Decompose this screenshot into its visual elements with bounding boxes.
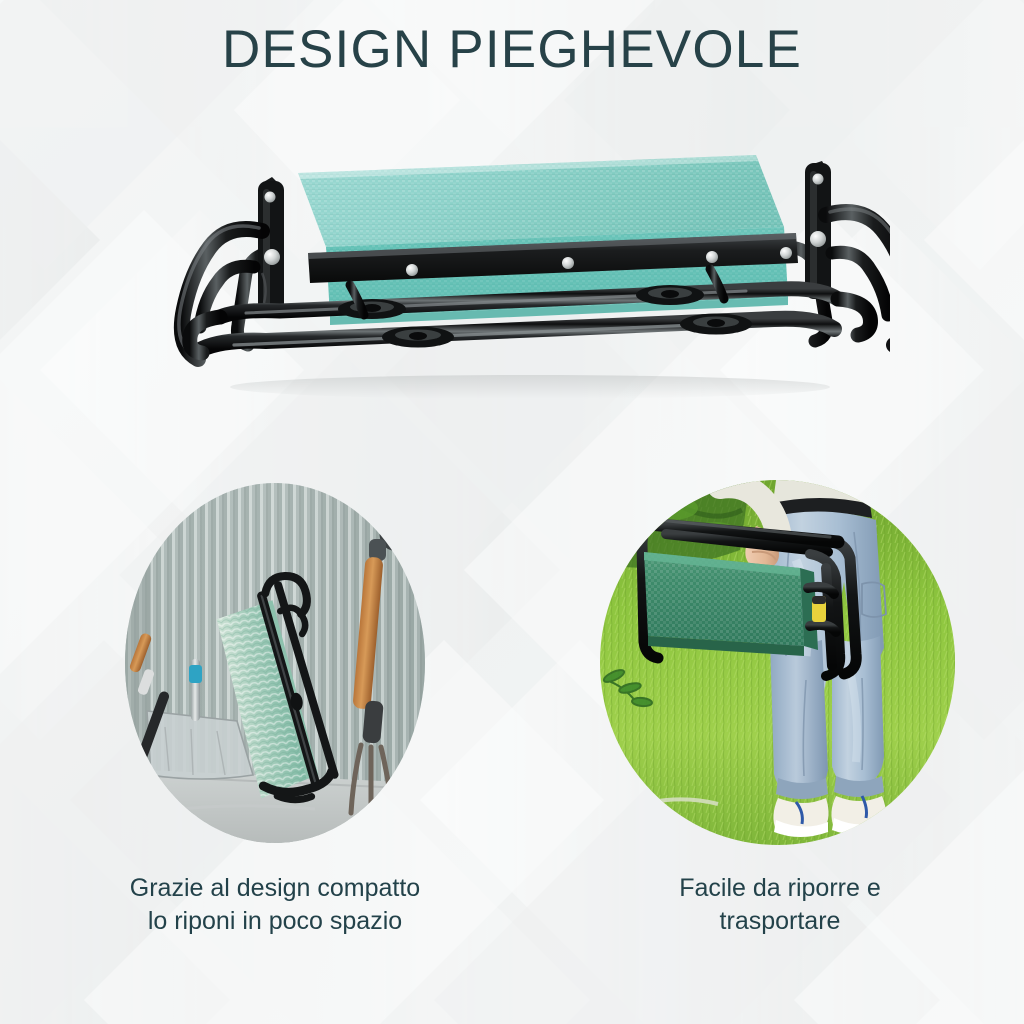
rivet bbox=[706, 251, 718, 263]
rivet bbox=[780, 247, 792, 259]
page-title: DESIGN PIEGHEVOLE bbox=[0, 18, 1024, 82]
left-hinge-bracket bbox=[258, 177, 284, 313]
right-hinge-bracket bbox=[805, 161, 831, 299]
rivet bbox=[406, 264, 418, 276]
infographic-stage: DESIGN PIEGHEVOLE bbox=[0, 0, 1024, 1024]
shed-storage-scene bbox=[125, 483, 425, 843]
rivet bbox=[562, 257, 574, 269]
hero-product-image bbox=[150, 135, 890, 415]
caption-left: Grazie al design compatto lo riponi in p… bbox=[60, 872, 490, 939]
photo-person-carrying-kneeler bbox=[600, 480, 955, 845]
photo-kneeler-in-shed bbox=[125, 483, 425, 843]
folded-kneeler-illustration bbox=[150, 135, 890, 415]
frame-lower-rails bbox=[190, 285, 871, 353]
caption-right: Facile da riporre e trasportare bbox=[600, 872, 960, 939]
carry-on-lawn-scene bbox=[600, 480, 955, 845]
